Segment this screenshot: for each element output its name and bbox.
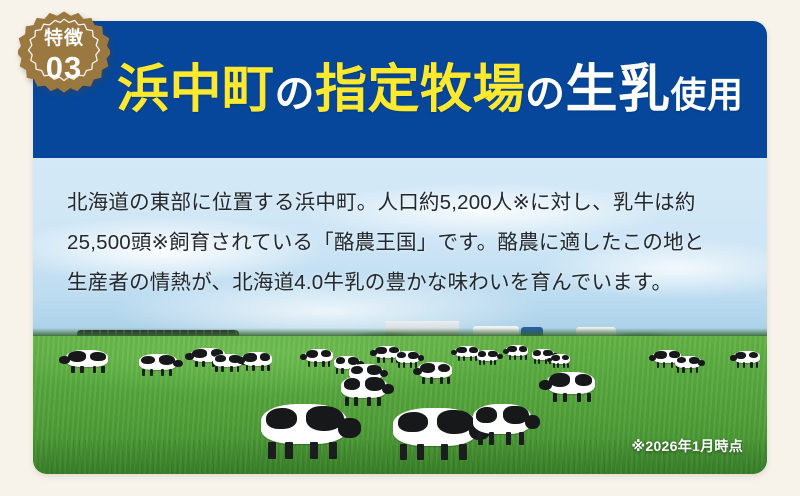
cow xyxy=(242,352,272,366)
cow xyxy=(477,350,499,361)
cow xyxy=(547,372,595,394)
title-particle-1: の xyxy=(275,72,316,116)
badge-text: 特徴 03 xyxy=(18,9,110,103)
badge-label: 特徴 xyxy=(44,29,84,48)
feature-badge: 特徴 03 xyxy=(18,9,110,103)
cow xyxy=(66,350,108,367)
page-title: 浜中町の指定牧場の生乳使用 xyxy=(117,64,744,116)
cow xyxy=(506,345,528,356)
cow xyxy=(393,408,477,446)
description-line-1: 北海道の東部に位置する浜中町。人口約5,200人※に対し、乳牛は約 xyxy=(67,183,733,223)
cow xyxy=(473,404,531,434)
description-block: 北海道の東部に位置する浜中町。人口約5,200人※に対し、乳牛は約 25,500… xyxy=(33,158,767,303)
cow xyxy=(418,362,452,378)
description-line-2: 25,500頭※飼育されている「酪農王国」です。酪農に適したこの地と xyxy=(67,223,733,263)
title-particle-2: の xyxy=(525,72,566,116)
header-band: 浜中町の指定牧場の生乳使用 xyxy=(33,21,767,158)
title-segment-farm: 指定牧場 xyxy=(315,61,525,119)
feature-card: 浜中町の指定牧場の生乳使用 xyxy=(33,21,767,474)
cow xyxy=(396,351,420,363)
title-segment-town: 浜中町 xyxy=(117,61,275,119)
photo-footnote: ※2026年1月時点 xyxy=(631,436,743,456)
title-segment-milk: 生乳 xyxy=(566,61,671,119)
description-line-3: 生産者の情熱が、北海道4.0牛乳の豊かな味わいを育んでいます。 xyxy=(67,263,733,303)
cow xyxy=(341,376,387,398)
cow xyxy=(261,404,347,444)
badge-number: 03 xyxy=(46,52,82,83)
cow xyxy=(734,351,760,363)
cow xyxy=(305,349,333,362)
cow xyxy=(139,354,177,370)
cow xyxy=(550,354,570,364)
title-segment-use: 使用 xyxy=(671,74,744,115)
cow xyxy=(455,346,479,357)
cow xyxy=(675,356,701,368)
